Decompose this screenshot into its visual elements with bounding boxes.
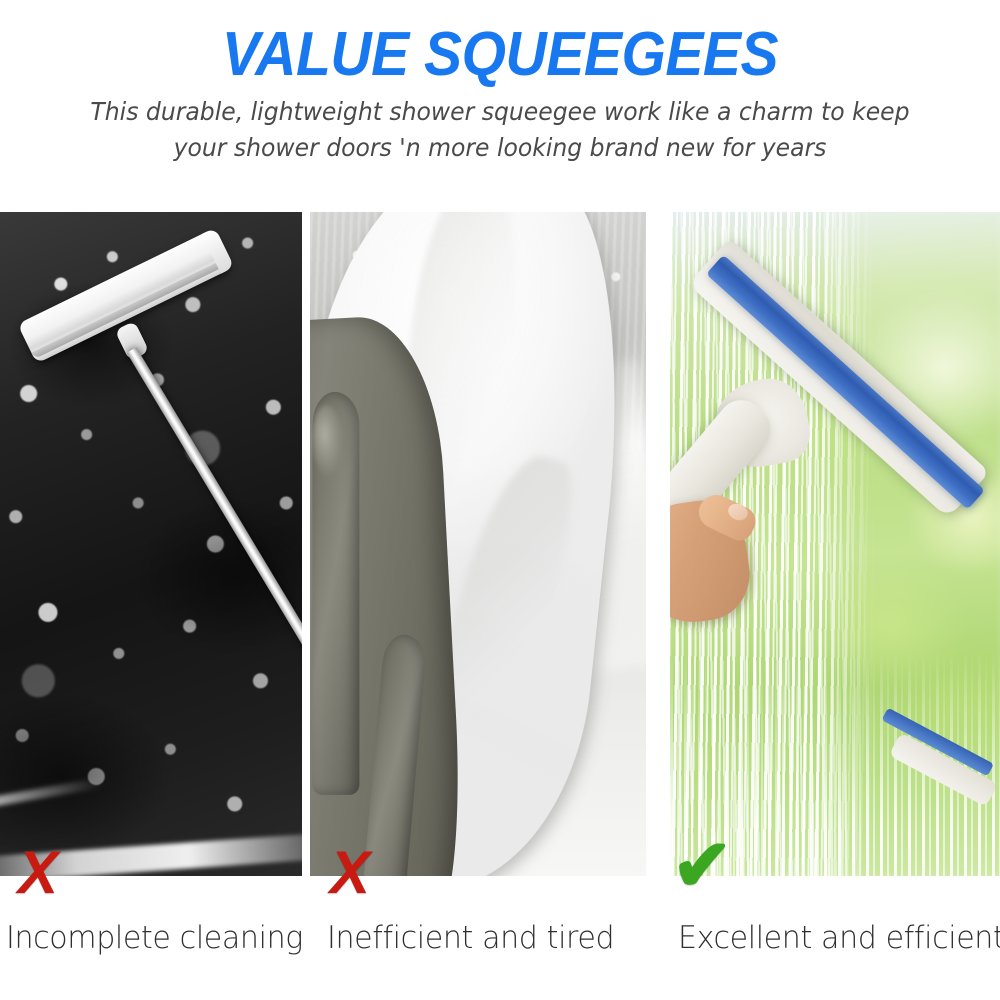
header: VALUE SQUEEGEES This durable, lightweigh…	[0, 0, 1000, 205]
panel-caption-incomplete-cleaning: Incomplete cleaning	[6, 920, 303, 956]
photo-gloved-hand-cloth	[310, 212, 646, 876]
cross-mark-icon: X	[330, 843, 370, 903]
cross-mark-icon: X	[18, 843, 58, 903]
panel-caption-inefficient-and-tired: Inefficient and tired	[327, 920, 614, 956]
comparison-panel-excellent-and-efficient	[670, 212, 1000, 876]
product-comparison-poster: VALUE SQUEEGEES This durable, lightweigh…	[0, 0, 1000, 1000]
comparison-panel-incomplete-cleaning	[0, 212, 302, 876]
comparison-panel-inefficient-and-tired	[310, 212, 646, 876]
subtitle: This durable, lightweight shower squeege…	[30, 88, 970, 166]
subtitle-line-2: your shower doors 'n more looking brand …	[30, 130, 970, 166]
check-mark-icon: ✔	[672, 830, 732, 902]
page-title: VALUE SQUEEGEES	[40, 0, 960, 88]
photo-pole-squeegee-bw	[0, 212, 302, 876]
comparison-panel-row	[0, 212, 1000, 876]
subtitle-line-1: This durable, lightweight shower squeege…	[30, 94, 970, 130]
panel-caption-excellent-and-efficient: Excellent and efficient	[678, 920, 1000, 956]
photo-blue-squeegee-in-use	[670, 212, 1000, 876]
